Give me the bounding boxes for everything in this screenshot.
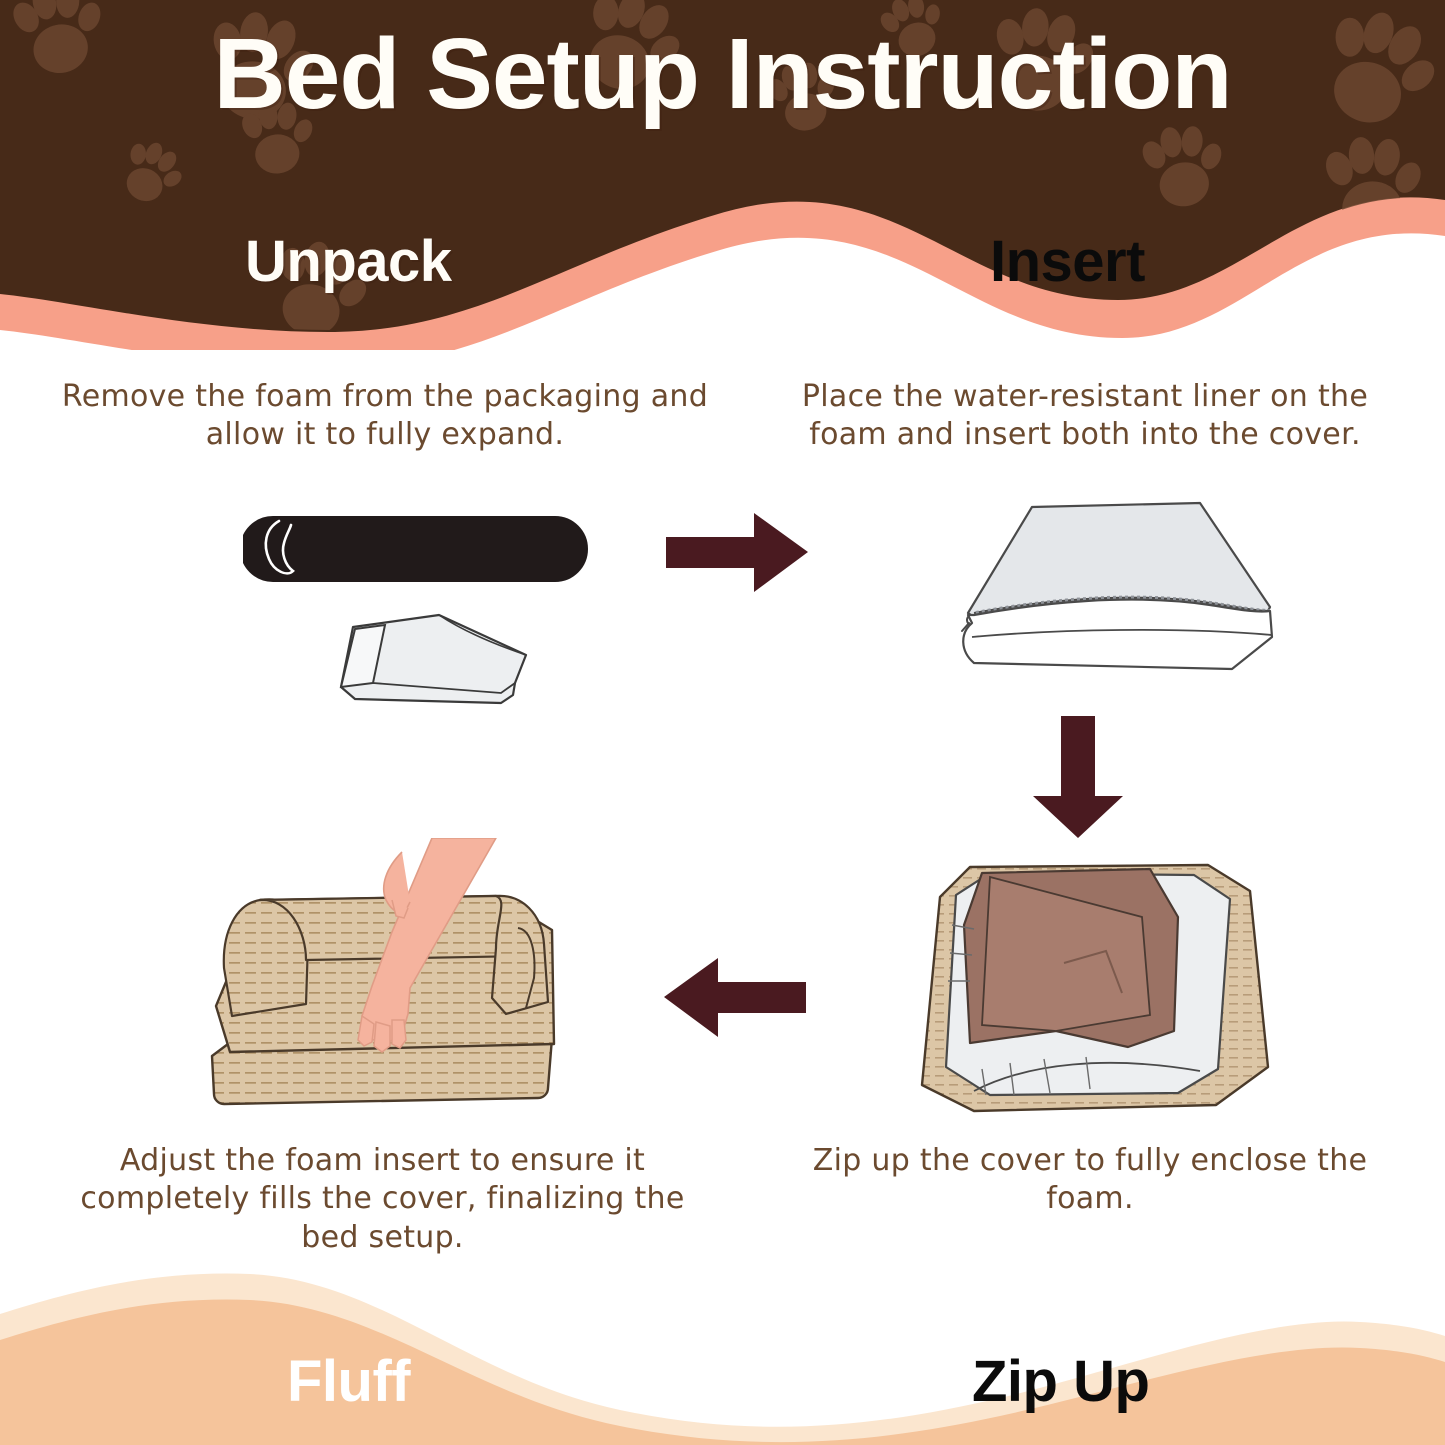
header-banner: Bed Setup Instruction [0, 0, 1445, 350]
illustration-open-cover-with-foam [878, 855, 1283, 1120]
arrow-unpack-to-insert-icon [662, 505, 812, 600]
caption-fluff: Adjust the foam insert to ensure it comp… [55, 1142, 710, 1257]
rolled-foam-icon [243, 517, 587, 581]
water-resistant-liner-icon [341, 615, 526, 703]
caption-insert: Place the water-resistant liner on the f… [760, 378, 1410, 455]
illustration-rolled-foam-and-liner [243, 487, 603, 722]
footer-wave-peach [0, 1300, 1445, 1445]
caption-zip-up: Zip up the cover to fully enclose the fo… [770, 1142, 1410, 1219]
footer-banner [0, 1270, 1445, 1445]
step-tag-zip-up: Zip Up [972, 1348, 1149, 1415]
page-title: Bed Setup Instruction [0, 18, 1445, 130]
bed-setup-instruction-poster: Bed Setup Instruction Unpack Insert Remo… [0, 0, 1445, 1445]
step-tag-unpack: Unpack [245, 228, 452, 295]
caption-unpack: Remove the foam from the packaging and a… [60, 378, 710, 455]
illustration-hand-pressing-bed [196, 838, 626, 1133]
step-tag-fluff: Fluff [287, 1348, 410, 1415]
arrow-zip-to-fluff-icon [660, 950, 810, 1045]
step-tag-insert: Insert [990, 228, 1145, 295]
arrow-insert-to-zip-icon [1023, 712, 1133, 842]
illustration-zipped-cushion-cover [880, 485, 1295, 685]
